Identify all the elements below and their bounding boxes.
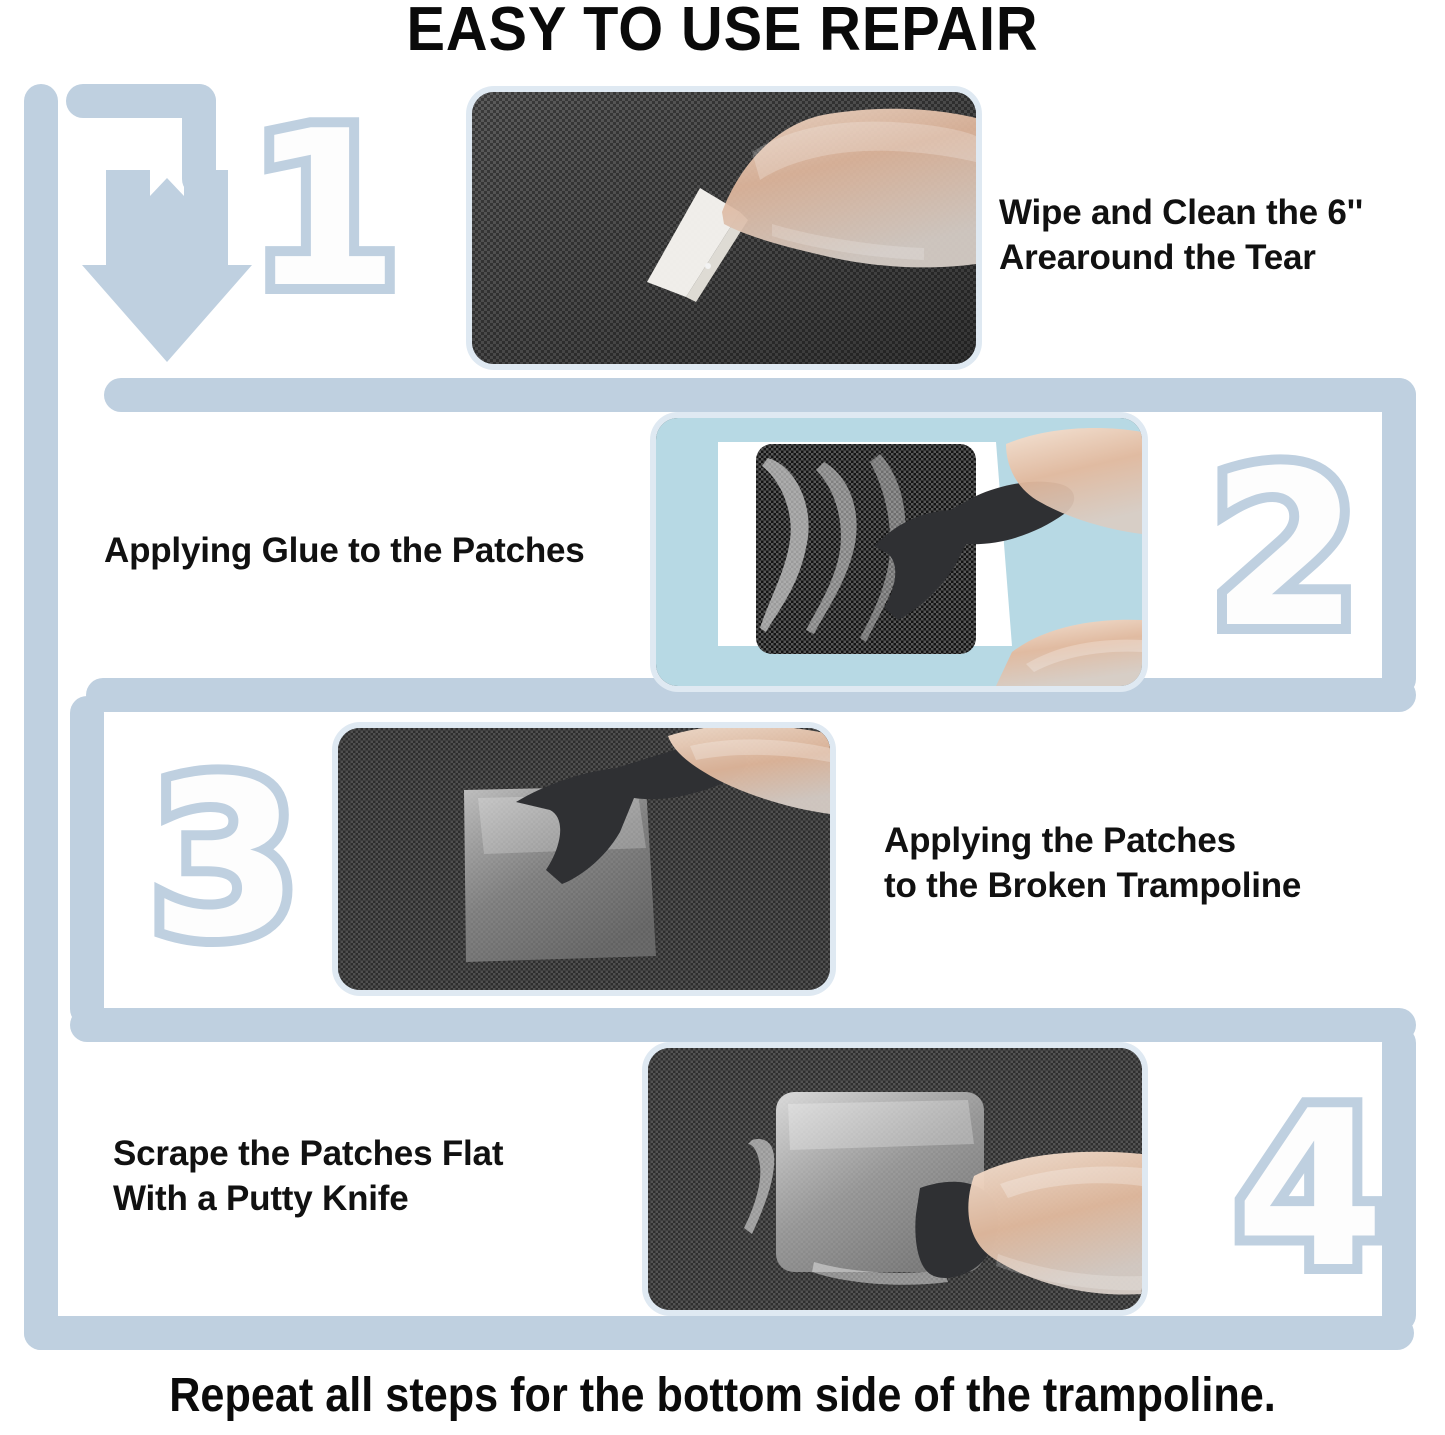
step-number-3: 3: [150, 760, 300, 960]
step-1-caption: Wipe and Clean the 6'' Arearound the Tea…: [999, 190, 1363, 280]
down-arrow-icon: [82, 170, 252, 362]
infographic-root: EASY TO USE REPAIR: [0, 0, 1445, 1435]
step-2-caption: Applying Glue to the Patches: [104, 528, 585, 573]
step-number-4-label: 4: [1235, 1064, 1385, 1315]
step-3-caption: Applying the Patches to the Broken Tramp…: [884, 818, 1301, 908]
step-number-2-label: 2: [1210, 424, 1360, 675]
step-1-photo: [472, 92, 976, 364]
step-4-photo: [648, 1048, 1142, 1310]
step-number-2: 2: [1210, 450, 1360, 650]
step-number-4: 4: [1235, 1090, 1385, 1290]
step-number-1-label: 1: [250, 84, 400, 335]
step-3-photo: [338, 728, 830, 990]
step-2-photo: [656, 418, 1142, 686]
step-4-caption: Scrape the Patches Flat With a Putty Kni…: [113, 1131, 503, 1221]
step-number-1: 1: [250, 110, 400, 310]
step-number-3-label: 3: [150, 734, 300, 985]
footer-note: Repeat all steps for the bottom side of …: [72, 1368, 1373, 1423]
